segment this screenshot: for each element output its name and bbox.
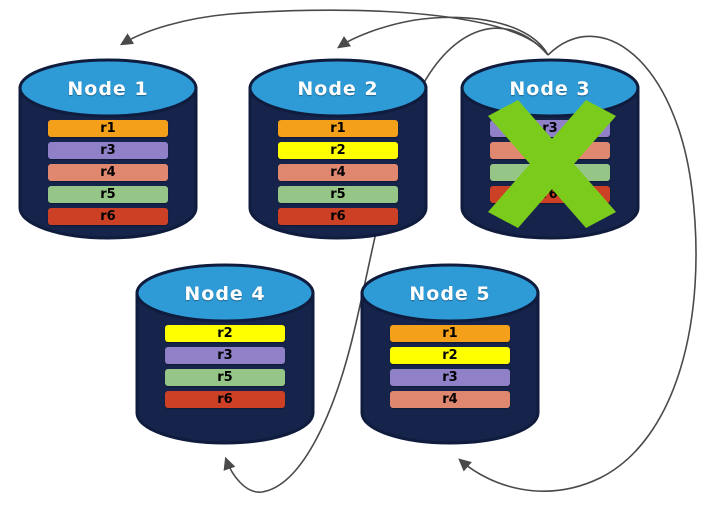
node-5-shards: r1r2r3r4 — [360, 325, 540, 408]
arrow-node3-to-node2 — [339, 17, 548, 55]
shard-bar: r1 — [278, 120, 398, 137]
shard-bar: r4 — [390, 391, 510, 408]
shard-bar: r3 — [490, 120, 610, 137]
shard-bar: r4 — [48, 164, 168, 181]
shard-bar: r2 — [165, 325, 285, 342]
shard-bar: r1 — [390, 325, 510, 342]
shard-bar: r4 — [490, 142, 610, 159]
diagram-canvas: Node 1 r1r3r4r5r6 Node 2 r1r2r4r5r6 Node… — [0, 0, 708, 508]
shard-bar: r3 — [390, 369, 510, 386]
shard-bar: r3 — [48, 142, 168, 159]
shard-bar: r3 — [165, 347, 285, 364]
node-1[interactable]: Node 1 r1r3r4r5r6 — [18, 58, 198, 240]
node-1-shards: r1r3r4r5r6 — [18, 120, 198, 225]
node-3[interactable]: Node 3 r3r4r5r6 — [460, 58, 640, 240]
shard-bar: r5 — [48, 186, 168, 203]
shard-bar: r6 — [48, 208, 168, 225]
shard-bar: r5 — [165, 369, 285, 386]
node-2[interactable]: Node 2 r1r2r4r5r6 — [248, 58, 428, 240]
shard-bar: r6 — [490, 186, 610, 203]
arrow-node3-to-node1 — [122, 10, 548, 55]
node-3-shards: r3r4r5r6 — [460, 120, 640, 203]
shard-bar: r2 — [278, 142, 398, 159]
node-5[interactable]: Node 5 r1r2r3r4 — [360, 263, 540, 445]
shard-bar: r2 — [390, 347, 510, 364]
shard-bar: r1 — [48, 120, 168, 137]
shard-bar: r6 — [278, 208, 398, 225]
node-2-shards: r1r2r4r5r6 — [248, 120, 428, 225]
shard-bar: r4 — [278, 164, 398, 181]
node-4-shards: r2r3r5r6 — [135, 325, 315, 408]
shard-bar: r6 — [165, 391, 285, 408]
shard-bar: r5 — [490, 164, 610, 181]
shard-bar: r5 — [278, 186, 398, 203]
node-4[interactable]: Node 4 r2r3r5r6 — [135, 263, 315, 445]
